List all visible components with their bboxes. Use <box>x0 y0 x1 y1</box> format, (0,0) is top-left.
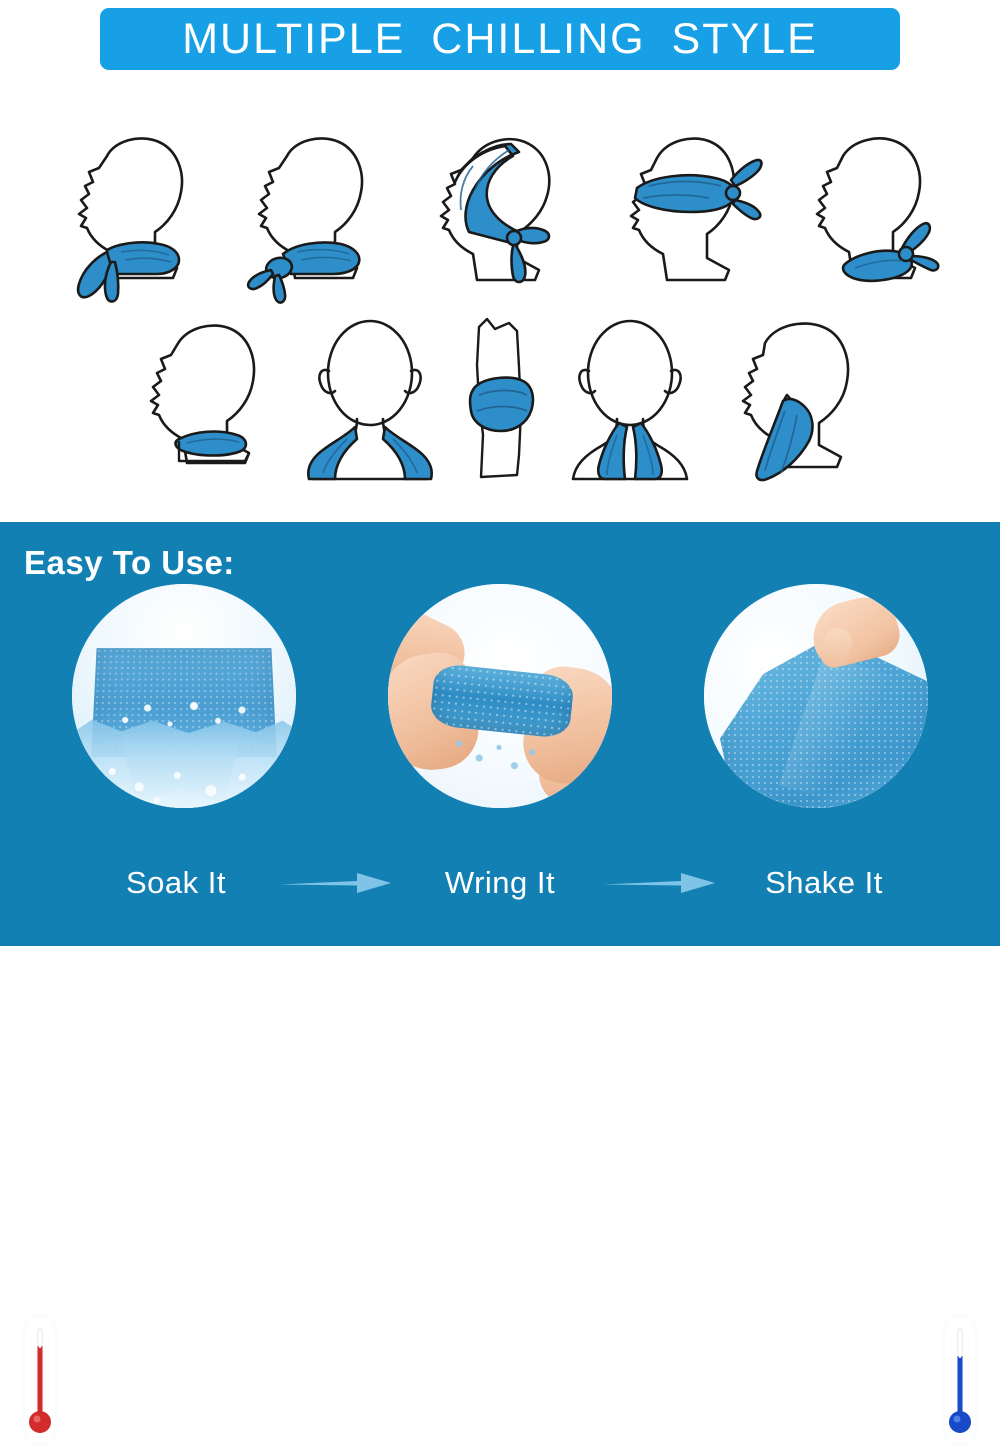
easy-to-use-panel: Easy To Use: Soak It <box>0 522 1000 946</box>
towel-shape <box>843 223 938 281</box>
towel-shape <box>635 160 762 219</box>
styles-row-1 <box>0 128 1000 313</box>
towel-shape <box>470 378 533 431</box>
step-photo-wring-it <box>388 584 612 808</box>
title-banner: MULTIPLE CHILLING STYLE <box>100 8 900 70</box>
step-label-wring-it: Wring It <box>397 865 603 901</box>
towel-shape <box>308 427 431 479</box>
step-photo-shake-it <box>704 584 928 808</box>
style-figure-shoulders-drape-front <box>295 315 445 490</box>
style-figure-forehead-headband-profile <box>605 128 765 313</box>
water-droplets <box>444 734 554 782</box>
style-figure-neck-drape-front <box>555 315 705 490</box>
thermometer-hot-icon <box>16 1312 64 1448</box>
steps-label-row: Soak It Wring It Shake It <box>0 848 1000 918</box>
step-label-soak-it: Soak It <box>73 865 279 901</box>
towel-shape <box>176 432 246 456</box>
thermometer-cold-icon <box>936 1312 984 1448</box>
style-figure-neck-wrap-back-profile <box>795 128 945 313</box>
style-figure-pirate-headband-profile <box>415 128 575 313</box>
styles-row-2 <box>0 315 1000 490</box>
style-figure-neck-scarf-profile <box>55 128 205 313</box>
style-figure-neck-knot-profile <box>235 128 385 313</box>
page-title: MULTIPLE CHILLING STYLE <box>182 18 818 61</box>
easy-to-use-heading: Easy To Use: <box>24 546 235 579</box>
arrow-right-icon <box>279 870 397 896</box>
steps-photo-row <box>0 584 1000 834</box>
style-figure-neck-collar-profile <box>123 315 283 490</box>
style-figure-wrist-wrap <box>457 315 543 490</box>
style-figure-face-wipe-profile <box>717 315 877 490</box>
water-splash <box>106 696 266 736</box>
title-banner-area: MULTIPLE CHILLING STYLE <box>0 0 1000 100</box>
step-photo-soak-it <box>72 584 296 808</box>
towel-shape <box>455 144 549 282</box>
chilling-styles-gallery <box>0 100 1000 522</box>
step-label-shake-it: Shake It <box>721 865 927 901</box>
arrow-right-icon <box>603 870 721 896</box>
